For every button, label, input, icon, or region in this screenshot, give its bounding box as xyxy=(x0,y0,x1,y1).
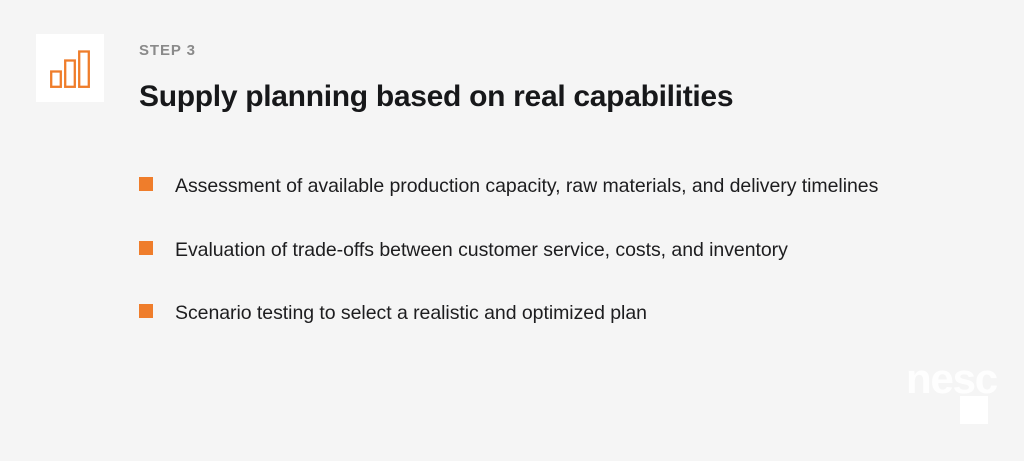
bar-chart-icon-tile xyxy=(36,34,104,102)
orange-square-bullet-icon xyxy=(139,304,153,318)
list-item-label: Assessment of available production capac… xyxy=(175,170,878,204)
bullet-list: Assessment of available production capac… xyxy=(139,170,929,331)
list-item-label: Scenario testing to select a realistic a… xyxy=(175,297,647,331)
nesc-square-mark-icon xyxy=(960,396,988,424)
list-item: Assessment of available production capac… xyxy=(139,170,929,204)
list-item-label: Evaluation of trade-offs between custome… xyxy=(175,234,788,268)
orange-square-bullet-icon xyxy=(139,241,153,255)
orange-square-bullet-icon xyxy=(139,177,153,191)
step-label: STEP 3 xyxy=(139,43,733,58)
list-item: Scenario testing to select a realistic a… xyxy=(139,297,929,331)
header-text-block: STEP 3 Supply planning based on real cap… xyxy=(139,34,733,113)
list-item: Evaluation of trade-offs between custome… xyxy=(139,234,929,268)
brand-logo: nesc xyxy=(906,358,1006,428)
logo-wordmark: nesc xyxy=(906,358,997,400)
slide-canvas: STEP 3 Supply planning based on real cap… xyxy=(0,0,1024,461)
page-title: Supply planning based on real capabiliti… xyxy=(139,80,733,113)
bar-chart-icon xyxy=(49,47,91,89)
slide-header: STEP 3 Supply planning based on real cap… xyxy=(36,34,733,113)
